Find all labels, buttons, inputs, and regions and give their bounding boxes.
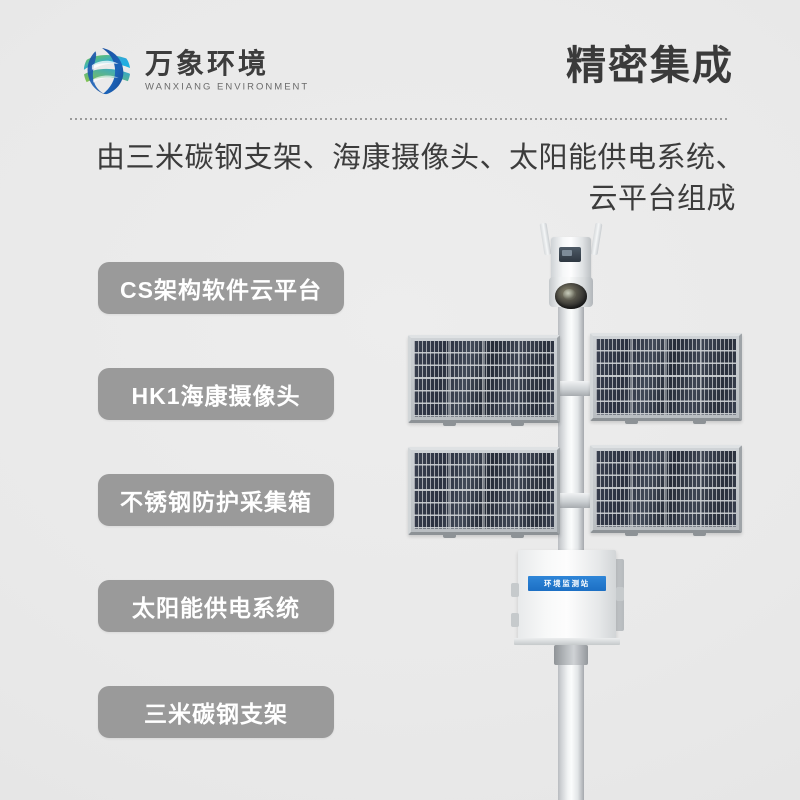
panel-foot <box>625 418 638 424</box>
panel-foot <box>625 530 638 536</box>
solar-panel-top-right <box>590 333 742 421</box>
solar-cell-grid <box>414 453 554 529</box>
control-box-latch <box>616 587 624 601</box>
subtitle-line-1: 由三米碳钢支架、海康摄像头、太阳能供电系统、 <box>96 138 736 179</box>
feature-pill-solar-power[interactable]: 太阳能供电系统 <box>98 580 334 632</box>
feature-pill-list: CS架构软件云平台 HK1海康摄像头 不锈钢防护采集箱 太阳能供电系统 三米碳钢… <box>98 262 344 792</box>
banner-header: 万象环境 WANXIANG ENVIRONMENT 精密集成 <box>0 0 800 115</box>
bracket-arm-right <box>591 223 603 256</box>
control-box-base-shelf <box>514 638 620 645</box>
feature-pill-label: HK1海康摄像头 <box>131 377 300 411</box>
panel-foot <box>443 420 456 426</box>
camera-housing <box>551 237 591 281</box>
brand-logo: 万象环境 WANXIANG ENVIRONMENT <box>78 42 309 100</box>
solar-cell-grid <box>414 341 554 417</box>
monitoring-station-illustration: 环境监测站 <box>390 215 790 800</box>
panel-foot <box>511 532 524 538</box>
solar-panel-bottom-right <box>590 445 742 533</box>
feature-pill-label: CS架构软件云平台 <box>120 271 322 305</box>
feature-pill-collection-box[interactable]: 不锈钢防护采集箱 <box>98 474 334 526</box>
camera-lens-icon <box>555 283 587 309</box>
panel-foot <box>693 418 706 424</box>
solar-cell-grid <box>596 451 736 527</box>
panel-foot <box>511 420 524 426</box>
control-box-label-text: 环境监测站 <box>544 578 590 588</box>
feature-pill-cloud-platform[interactable]: CS架构软件云平台 <box>98 262 344 314</box>
product-banner: 万象环境 WANXIANG ENVIRONMENT 精密集成 由三米碳钢支架、海… <box>0 0 800 800</box>
solar-panel-bottom-left <box>408 447 560 535</box>
feature-pill-label: 不锈钢防护采集箱 <box>120 483 312 517</box>
header-divider <box>70 118 730 120</box>
feature-pill-camera[interactable]: HK1海康摄像头 <box>98 368 334 420</box>
feature-pill-steel-pole[interactable]: 三米碳钢支架 <box>98 686 334 738</box>
brand-name-en: WANXIANG ENVIRONMENT <box>145 82 309 92</box>
panel-foot <box>443 532 456 538</box>
pole-collar <box>554 645 588 665</box>
feature-pill-label: 三米碳钢支架 <box>144 695 288 729</box>
brand-wordmark: 万象环境 WANXIANG ENVIRONMENT <box>145 49 309 93</box>
globe-swirl-logo-icon <box>78 42 136 100</box>
bracket-arm-left <box>540 223 552 256</box>
control-box-hinge <box>511 613 519 627</box>
carbon-steel-pole <box>558 275 584 800</box>
brand-name-cn: 万象环境 <box>145 49 309 78</box>
control-box-hinge <box>511 583 519 597</box>
panel-foot <box>693 530 706 536</box>
control-box: 环境监测站 <box>518 550 616 640</box>
solar-panel-top-left <box>408 335 560 423</box>
page-title: 精密集成 <box>566 46 734 86</box>
solar-cell-grid <box>596 339 736 415</box>
subtitle: 由三米碳钢支架、海康摄像头、太阳能供电系统、 云平台组成 <box>96 138 736 220</box>
feature-pill-label: 太阳能供电系统 <box>132 589 300 623</box>
control-box-label: 环境监测站 <box>528 576 606 591</box>
camera-illuminator-panel <box>559 247 581 262</box>
